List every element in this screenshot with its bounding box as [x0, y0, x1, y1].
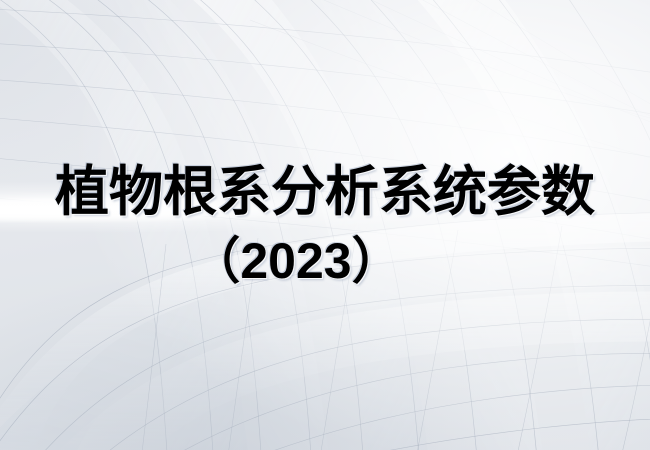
title-slide: 植物根系分析系统参数 （2023） [0, 0, 650, 450]
title-block: 植物根系分析系统参数 （2023） [0, 0, 650, 450]
slide-title-line-1: 植物根系分析系统参数 [55, 164, 595, 221]
slide-title-line-2: （2023） [190, 235, 401, 288]
